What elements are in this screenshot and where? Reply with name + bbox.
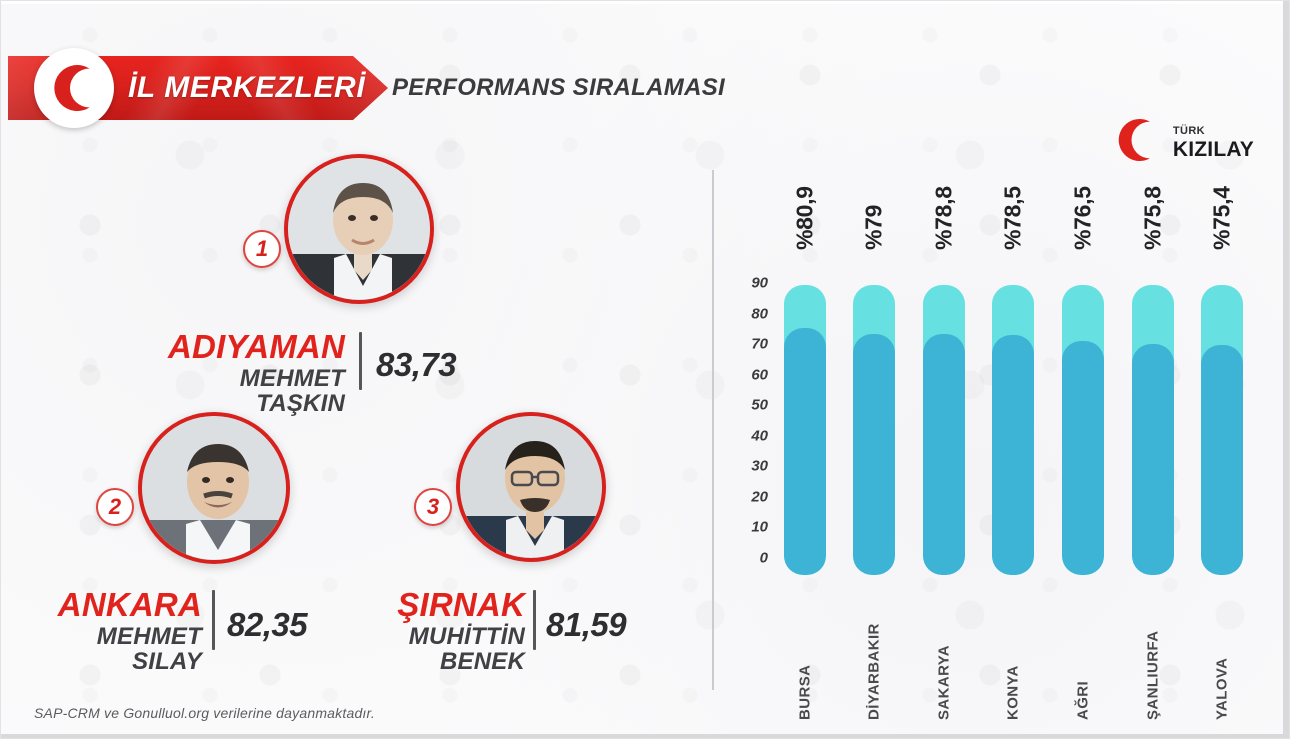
bar-value-label: %79: [861, 120, 888, 250]
avatar-photo: [288, 158, 430, 300]
bar-category-label: AĞRI: [1075, 570, 1092, 720]
bar-column[interactable]: %78,5KONYA: [979, 170, 1049, 690]
bar-value-label: %80,9: [791, 120, 818, 250]
podium-divider-3: [533, 590, 536, 650]
podium-person-name-2-line2: SILAY: [12, 650, 202, 675]
bar-track: [1201, 285, 1243, 575]
chart-axis-line: [712, 170, 714, 690]
bar-fill: [923, 334, 965, 575]
bar-column[interactable]: %80,9BURSA: [770, 170, 840, 690]
rank-badge-2: 2: [96, 488, 134, 526]
podium-person-name-1-line1: MEHMET: [110, 367, 345, 392]
bar-chart: 9080706050403020100 %80,9BURSA%79DİYARBA…: [712, 170, 1257, 690]
bar-category-label: YALOVA: [1214, 570, 1231, 720]
bar-track: [1062, 285, 1104, 575]
podium-person-name-3-line1: MUHİTTİN: [380, 625, 525, 650]
y-axis-tick-20: 20: [728, 488, 768, 505]
podium-names-3: ŞIRNAK MUHİTTİN BENEK: [380, 588, 525, 675]
avatar: [138, 412, 290, 564]
podium-caption-1: ADIYAMAN MEHMET TAŞKIN 83,73: [110, 330, 500, 417]
bar-column[interactable]: %79DİYARBAKIR: [840, 170, 910, 690]
y-axis-tick-70: 70: [728, 336, 768, 353]
bar-category-label: KONYA: [1005, 570, 1022, 720]
header-subtitle: PERFORMANS SIRALAMASI: [392, 74, 725, 102]
infographic-page: İL MERKEZLERİ PERFORMANS SIRALAMASI TÜRK…: [0, 0, 1290, 739]
bar-value-label: %75,8: [1139, 120, 1166, 250]
bar-category-label: DİYARBAKIR: [866, 570, 883, 720]
y-axis-tick-50: 50: [728, 397, 768, 414]
podium-section: 1 ADIYAMAN MEHMET TAŞKIN 83,73: [0, 140, 700, 685]
podium-city-2: ANKARA: [12, 588, 202, 622]
podium-divider-1: [359, 332, 362, 390]
bar-category-label: BURSA: [796, 570, 813, 720]
podium-names-1: ADIYAMAN MEHMET TAŞKIN: [110, 330, 345, 417]
bar-track: [853, 285, 895, 575]
podium-caption-3: ŞIRNAK MUHİTTİN BENEK 81,59: [380, 588, 680, 675]
podium-score-2: 82,35: [227, 606, 307, 644]
y-axis-tick-80: 80: [728, 305, 768, 322]
bar-category-label: ŞANLIURFA: [1144, 570, 1161, 720]
bar-value-label: %78,5: [1000, 120, 1027, 250]
bar-fill: [853, 334, 895, 575]
bar-track: [923, 285, 965, 575]
podium-score-1: 83,73: [376, 346, 456, 384]
bar-column[interactable]: %75,4YALOVA: [1187, 170, 1257, 690]
bar-fill: [1132, 344, 1174, 575]
bar-fill: [992, 335, 1034, 575]
y-axis-tick-10: 10: [728, 519, 768, 536]
avatar-photo: [142, 416, 286, 560]
header: İL MERKEZLERİ PERFORMANS SIRALAMASI TÜRK…: [0, 56, 1290, 126]
podium-names-2: ANKARA MEHMET SILAY: [12, 588, 202, 675]
podium-person-name-2-line1: MEHMET: [12, 625, 202, 650]
podium-caption-2: ANKARA MEHMET SILAY 82,35: [12, 588, 342, 675]
bottom-edge: [0, 734, 1290, 739]
bar-column[interactable]: %78,8SAKARYA: [909, 170, 979, 690]
podium-person-name-3-line2: BENEK: [380, 650, 525, 675]
red-crescent-icon: [34, 48, 114, 128]
avatar-photo: [460, 416, 602, 558]
banner-title: İL MERKEZLERİ: [128, 56, 365, 120]
bar-track: [784, 285, 826, 575]
bar-value-label: %78,8: [930, 120, 957, 250]
podium-divider-2: [212, 590, 215, 650]
podium-city-1: ADIYAMAN: [110, 330, 345, 364]
avatar: [456, 412, 606, 562]
podium-score-3: 81,59: [546, 606, 626, 644]
bar-value-label: %75,4: [1209, 120, 1236, 250]
bar-fill: [784, 328, 826, 575]
bar-category-label: SAKARYA: [935, 570, 952, 720]
bar-fill: [1062, 341, 1104, 575]
bar-track: [992, 285, 1034, 575]
bar-value-label: %76,5: [1070, 120, 1097, 250]
y-axis-tick-40: 40: [728, 427, 768, 444]
podium-city-3: ŞIRNAK: [380, 588, 525, 622]
y-axis-tick-60: 60: [728, 366, 768, 383]
y-axis-tick-0: 0: [728, 550, 768, 567]
avatar: [284, 154, 434, 304]
y-axis-tick-90: 90: [728, 275, 768, 292]
rank-badge-3: 3: [414, 488, 452, 526]
chart-bars: %80,9BURSA%79DİYARBAKIR%78,8SAKARYA%78,5…: [770, 170, 1257, 690]
rank-badge-1: 1: [243, 230, 281, 268]
bar-column[interactable]: %76,5AĞRI: [1048, 170, 1118, 690]
bar-track: [1132, 285, 1174, 575]
bar-fill: [1201, 345, 1243, 575]
footer-note: SAP-CRM ve Gonulluol.org verilerine daya…: [34, 705, 375, 721]
chart-y-axis: 9080706050403020100: [728, 170, 768, 690]
y-axis-tick-30: 30: [728, 458, 768, 475]
bar-column[interactable]: %75,8ŞANLIURFA: [1118, 170, 1188, 690]
top-edge: [0, 0, 1290, 4]
